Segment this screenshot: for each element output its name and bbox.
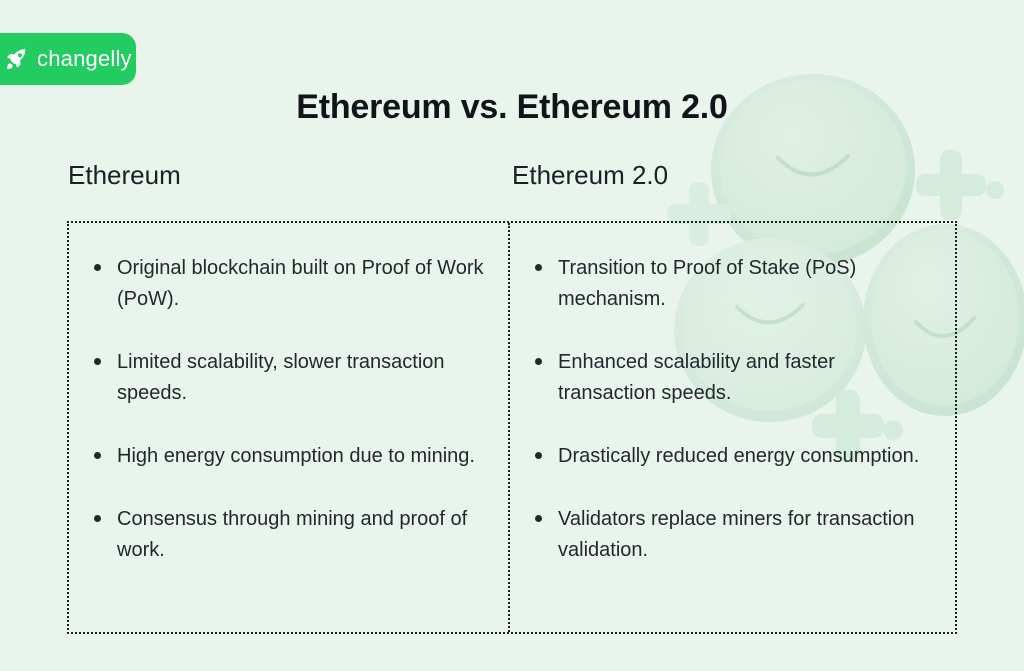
bullet-dot-icon (535, 452, 542, 459)
list-item: Enhanced scalability and faster transact… (532, 347, 935, 409)
list-item-text: Limited scalability, slower transaction … (117, 351, 445, 404)
list-item-text: Consensus through mining and proof of wo… (117, 508, 467, 561)
list-item-text: Drastically reduced energy consumption. (558, 445, 919, 467)
rocket-icon (4, 46, 30, 72)
comparison-column-ethereum-2: Transition to Proof of Stake (PoS) mecha… (510, 223, 955, 632)
page-title: Ethereum vs. Ethereum 2.0 (0, 88, 1024, 127)
bullet-list-ethereum-2: Transition to Proof of Stake (PoS) mecha… (532, 253, 935, 566)
bullet-dot-icon (535, 264, 542, 271)
brand-name: changelly (37, 48, 132, 70)
bullet-dot-icon (535, 358, 542, 365)
bullet-dot-icon (535, 515, 542, 522)
list-item: Limited scalability, slower transaction … (91, 347, 488, 409)
column-header-ethereum-2: Ethereum 2.0 (512, 160, 668, 191)
list-item: Consensus through mining and proof of wo… (91, 504, 488, 566)
bullet-dot-icon (94, 452, 101, 459)
list-item-text: Original blockchain built on Proof of Wo… (117, 257, 483, 310)
list-item-text: High energy consumption due to mining. (117, 445, 475, 467)
list-item-text: Transition to Proof of Stake (PoS) mecha… (558, 257, 856, 310)
list-item: Original blockchain built on Proof of Wo… (91, 253, 488, 315)
bullet-list-ethereum: Original blockchain built on Proof of Wo… (91, 253, 488, 566)
list-item: Drastically reduced energy consumption. (532, 441, 935, 472)
bullet-dot-icon (94, 264, 101, 271)
comparison-column-ethereum: Original blockchain built on Proof of Wo… (69, 223, 510, 632)
column-header-ethereum: Ethereum (68, 160, 181, 191)
list-item: Validators replace miners for transactio… (532, 504, 935, 566)
list-item: Transition to Proof of Stake (PoS) mecha… (532, 253, 935, 315)
list-item-text: Enhanced scalability and faster transact… (558, 351, 835, 404)
changelly-logo-badge[interactable]: changelly (0, 33, 136, 85)
infographic-canvas: changelly Ethereum vs. Ethereum 2.0 Ethe… (0, 0, 1024, 671)
plus-right-icon (916, 150, 986, 220)
dot-right-icon (986, 181, 1004, 199)
list-item-text: Validators replace miners for transactio… (558, 508, 914, 561)
bullet-dot-icon (94, 515, 101, 522)
bullet-dot-icon (94, 358, 101, 365)
comparison-table: Original blockchain built on Proof of Wo… (67, 221, 957, 634)
list-item: High energy consumption due to mining. (91, 441, 488, 472)
